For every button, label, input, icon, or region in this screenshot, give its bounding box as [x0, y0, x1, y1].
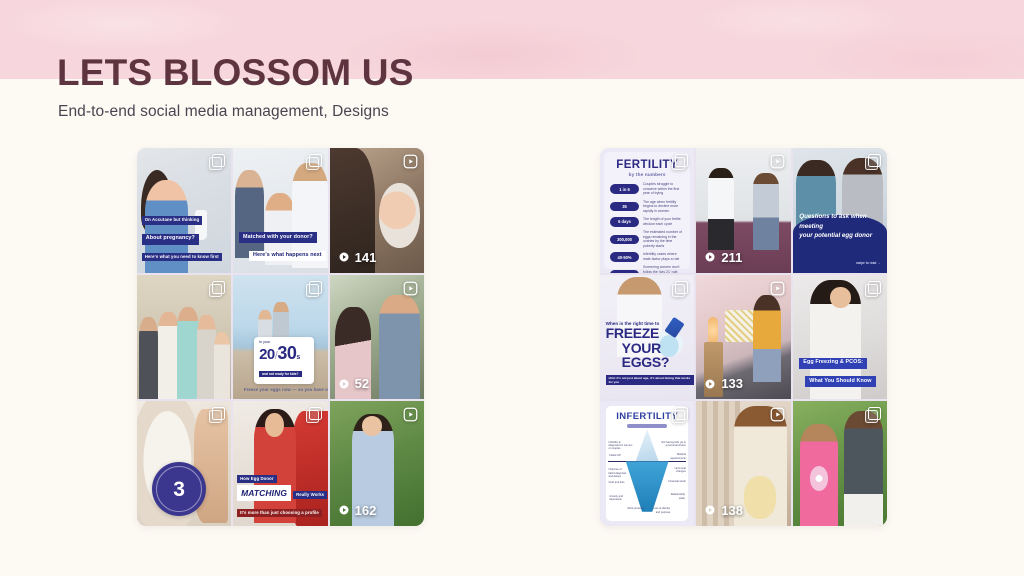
view-count-value: 52 [355, 376, 369, 391]
caption-line: Here's what you need to know first [142, 253, 222, 261]
photo-detail [753, 295, 781, 382]
view-count: 52 [338, 376, 369, 391]
grid-tile-left-5[interactable]: In your 20/30s and not ready for kids? F… [233, 275, 327, 400]
photo-detail [725, 310, 757, 342]
card-bar: and not ready for kids? [259, 371, 301, 377]
instagram-grid-left: On Accutane but thinking About pregnancy… [137, 148, 424, 526]
carousel-icon [673, 407, 688, 422]
view-count-value: 138 [721, 503, 743, 518]
grid-tile-right-5[interactable]: 133 [696, 275, 790, 400]
carousel-icon [210, 407, 225, 422]
caption-line: How Egg Donor [237, 475, 277, 483]
infographic-card: INFERTILITY Infertility is diagnosed in … [606, 406, 688, 521]
card-footer: Freeze your eggs now — so you have optio… [241, 386, 328, 394]
stat-text: The length of your fertile window each c… [643, 217, 684, 226]
caption-line: About pregnancy? [142, 234, 199, 245]
iceberg-bottom [626, 461, 669, 511]
grid-tile-left-3[interactable]: 141 [330, 148, 424, 273]
reel-icon [403, 281, 418, 296]
grid-tile-left-8[interactable]: How Egg Donor MATCHING Really Works It's… [233, 401, 327, 526]
view-count-value: 211 [721, 250, 742, 265]
instagram-grid-right: FERTILITY by the numbers 1 in 6 Couples … [600, 148, 887, 526]
grid-tile-right-3[interactable]: Questions to ask when meeting your poten… [793, 148, 887, 273]
carousel-icon [866, 281, 881, 296]
iceberg-label: Not having kids yet is a personal choice [661, 441, 686, 448]
reel-icon [770, 154, 785, 169]
view-count-value: 141 [355, 250, 377, 265]
stat-text: Screening women don't follow the 'day 21… [643, 265, 684, 273]
tile-footer: Freeze your eggs now — so you have optio… [241, 378, 328, 396]
infographic-subtitle-bar [627, 424, 667, 428]
photo-detail [753, 173, 779, 250]
carousel-icon [866, 154, 881, 169]
view-count: 138 [704, 503, 743, 518]
reel-icon [770, 407, 785, 422]
headline-line-1: FREEZE [606, 326, 695, 341]
infographic-rows: 1 in 6 Couples struggle to conceive with… [610, 182, 684, 273]
grid-tile-right-1[interactable]: FERTILITY by the numbers 1 in 6 Couples … [600, 148, 694, 273]
caption-line: It's more than just choosing a profile [237, 509, 322, 517]
caption-line: Here's what happens next [249, 251, 326, 262]
carousel-icon [307, 407, 322, 422]
iceberg-label: Infertility is diagnosed in women or cou… [608, 441, 633, 451]
photo-detail [708, 317, 718, 344]
badge-ring [156, 466, 202, 512]
stat-pill: 35 [610, 202, 639, 212]
caption-line: What You Should Know [805, 376, 875, 387]
iceberg-label: Chances of failed diagnosis and delays [608, 468, 628, 478]
photo-detail [214, 332, 230, 399]
iceberg-label: Work pressure [627, 507, 647, 510]
photo-detail [265, 413, 284, 438]
caption-line: Really Works [293, 491, 327, 499]
tile-headline-block: When is the right time to FREEZE YOUR EG… [606, 321, 695, 388]
reel-icon [403, 407, 418, 422]
photo-detail [844, 411, 884, 526]
iceberg-label: Medical appointments [664, 453, 685, 460]
view-count: 133 [704, 376, 743, 391]
carousel-icon [866, 407, 881, 422]
grid-tile-left-9[interactable]: 162 [330, 401, 424, 526]
iceberg-label: Failed IVF [609, 454, 627, 457]
caption-line: your potential egg donor [799, 231, 887, 240]
grid-tile-right-6[interactable]: Egg Freezing & PCOS: What You Should Kno… [793, 275, 887, 400]
stat-pill: 300,000 [610, 235, 639, 245]
iceberg-label: Anxiety and depression [609, 495, 627, 502]
infographic-row: 75% Screening women don't follow the 'da… [610, 265, 684, 273]
view-count-value: 133 [721, 376, 743, 391]
caption-line: Matched with your donor? [239, 232, 317, 243]
stat-text: Couples struggle to conceive within the … [643, 182, 684, 196]
carousel-icon [673, 154, 688, 169]
infographic-subtitle: by the numbers [610, 172, 684, 177]
carousel-icon [210, 281, 225, 296]
card-number: 20/30s [259, 344, 309, 362]
photo-detail [708, 168, 734, 250]
tile-caption: How Egg Donor MATCHING Really Works It's… [237, 467, 327, 518]
tile-caption: Egg Freezing & PCOS: What You Should Kno… [799, 350, 875, 387]
tile-caption: On Accutane but thinking About pregnancy… [142, 208, 222, 262]
iceberg-label: Relationship strain [665, 493, 685, 500]
grid-tile-right-4[interactable]: When is the right time to FREEZE YOUR EG… [600, 275, 694, 400]
page-title: LETS BLOSSOM US [57, 52, 414, 94]
card-number-a: 20 [259, 346, 275, 363]
swipe-label: swipe to read → [856, 261, 880, 265]
stat-text: The estimated number of eggs remaining i… [643, 230, 684, 249]
headline-bar: Hint: it's not just about age, it's abou… [606, 375, 695, 385]
reel-icon [403, 154, 418, 169]
iceberg-label: Loss of identity and purpose [650, 507, 670, 514]
iceberg-label: Hormonal changes [666, 467, 686, 474]
iceberg-label: Grief and loss [608, 481, 626, 484]
grid-tile-left-6[interactable]: 52 [330, 275, 424, 400]
grid-tile-right-9[interactable] [793, 401, 887, 526]
view-count: 162 [338, 503, 377, 518]
infographic-row: 1 in 6 Couples struggle to conceive with… [610, 182, 684, 196]
stat-pill: 75% [610, 270, 639, 273]
grid-tile-right-8[interactable]: 138 [696, 401, 790, 526]
caption-line: Questions to ask when meeting [799, 212, 887, 231]
iceberg-label: Financial strain [664, 480, 685, 483]
grid-tile-left-1[interactable]: On Accutane but thinking About pregnancy… [137, 148, 231, 273]
infographic-row: 6 days The length of your fertile window… [610, 217, 684, 227]
stat-text: The age when fertility begins to decline… [643, 200, 684, 214]
caption-line: Egg Freezing & PCOS: [799, 358, 867, 369]
carousel-icon [673, 281, 688, 296]
grid-tile-right-7[interactable]: INFERTILITY Infertility is diagnosed in … [600, 401, 694, 526]
stat-pill: 1 in 6 [610, 184, 639, 194]
slide-canvas: LETS BLOSSOM US End-to-end social media … [0, 0, 1024, 576]
photo-detail [177, 307, 200, 399]
iceberg-top [636, 429, 659, 461]
tile-caption: Matched with your donor? Here's what hap… [239, 225, 326, 262]
infographic-row: 35 The age when fertility begins to decl… [610, 200, 684, 214]
view-count: 211 [704, 250, 742, 265]
headline-line-2: YOUR EGGS? [622, 341, 695, 370]
stat-text: Infertility cases where male-factor play… [643, 252, 684, 261]
reel-icon [770, 281, 785, 296]
infographic-row: 300,000 The estimated number of eggs rem… [610, 230, 684, 249]
carousel-icon [210, 154, 225, 169]
caption-headline: MATCHING [237, 485, 291, 500]
caption-line: On Accutane but thinking [142, 216, 203, 224]
grid-tile-left-4[interactable] [137, 275, 231, 400]
photo-detail [139, 317, 158, 399]
photo-detail [744, 476, 776, 518]
grid-tile-right-2[interactable]: 211 [696, 148, 790, 273]
page-subtitle: End-to-end social media management, Desi… [58, 103, 389, 121]
grid-tile-left-7[interactable]: 3 [137, 401, 231, 526]
number-badge: 3 [152, 462, 206, 516]
card-number-b: 30 [277, 343, 296, 363]
view-count: 141 [338, 250, 377, 265]
tile-caption: Questions to ask when meeting your poten… [799, 212, 887, 240]
grid-tile-left-2[interactable]: Matched with your donor? Here's what hap… [233, 148, 327, 273]
photo-detail [158, 312, 179, 399]
stat-pill: 6 days [610, 217, 639, 227]
view-count-value: 162 [355, 503, 377, 518]
card-number-suffix: s [296, 354, 299, 361]
carousel-icon [307, 154, 322, 169]
stat-pill: 40-50% [610, 252, 639, 262]
infographic-row: 40-50% Infertility cases where male-fact… [610, 252, 684, 262]
carousel-icon [307, 281, 322, 296]
